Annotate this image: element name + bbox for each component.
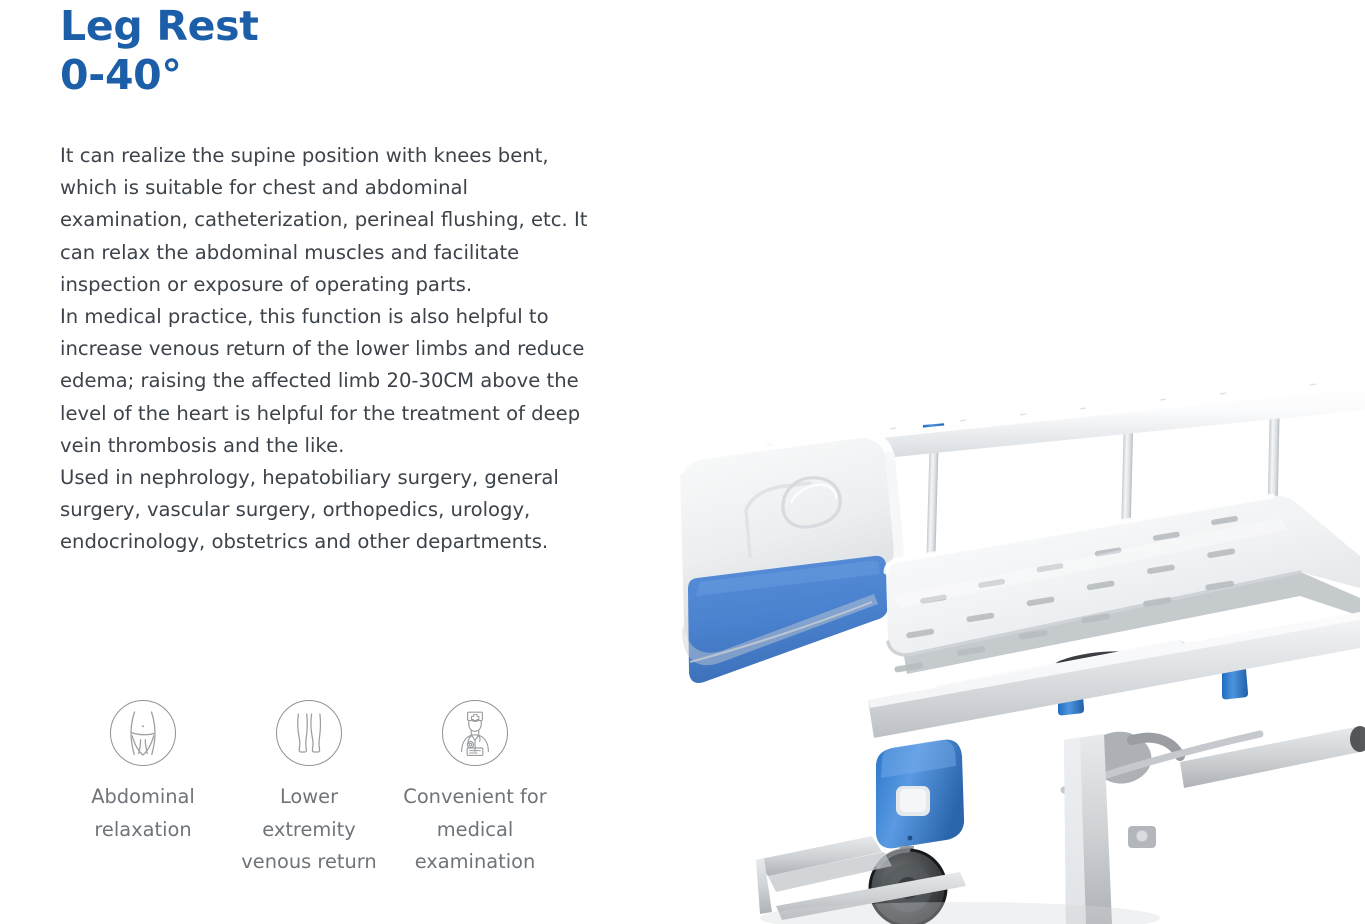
feature-caption: Lower extremity venous return: [234, 781, 384, 879]
page-title-line-1: Leg Rest: [60, 2, 600, 51]
hospital-bed-photo: [660, 0, 1365, 924]
text-column: Leg Rest 0-40° It can realize the supine…: [60, 0, 600, 559]
feature-item-abdominal-relaxation: Abdominal relaxation: [60, 700, 226, 846]
description-paragraph: It can realize the supine position with …: [60, 140, 590, 301]
page-title-line-2: 0-40°: [60, 51, 600, 100]
description-block: It can realize the supine position with …: [60, 140, 590, 559]
doctor-stethoscope-icon: [442, 700, 508, 766]
legs-icon: [276, 700, 342, 766]
description-paragraph: Used in nephrology, hepatobiliary surger…: [60, 462, 590, 559]
description-paragraph: In medical practice, this function is al…: [60, 301, 590, 462]
product-feature-slide: Leg Rest 0-40° It can realize the supine…: [0, 0, 1365, 924]
feature-caption: Abdominal relaxation: [68, 781, 218, 846]
feature-item-medical-examination: Convenient for medical examination: [392, 700, 558, 879]
bed-corner-bumper: [876, 740, 964, 849]
abdomen-icon: [110, 700, 176, 766]
feature-list: Abdominal relaxation Lower extremity ven…: [60, 700, 600, 879]
feature-caption: Convenient for medical examination: [400, 781, 550, 879]
feature-item-venous-return: Lower extremity venous return: [226, 700, 392, 879]
page-title: Leg Rest 0-40°: [60, 0, 600, 100]
